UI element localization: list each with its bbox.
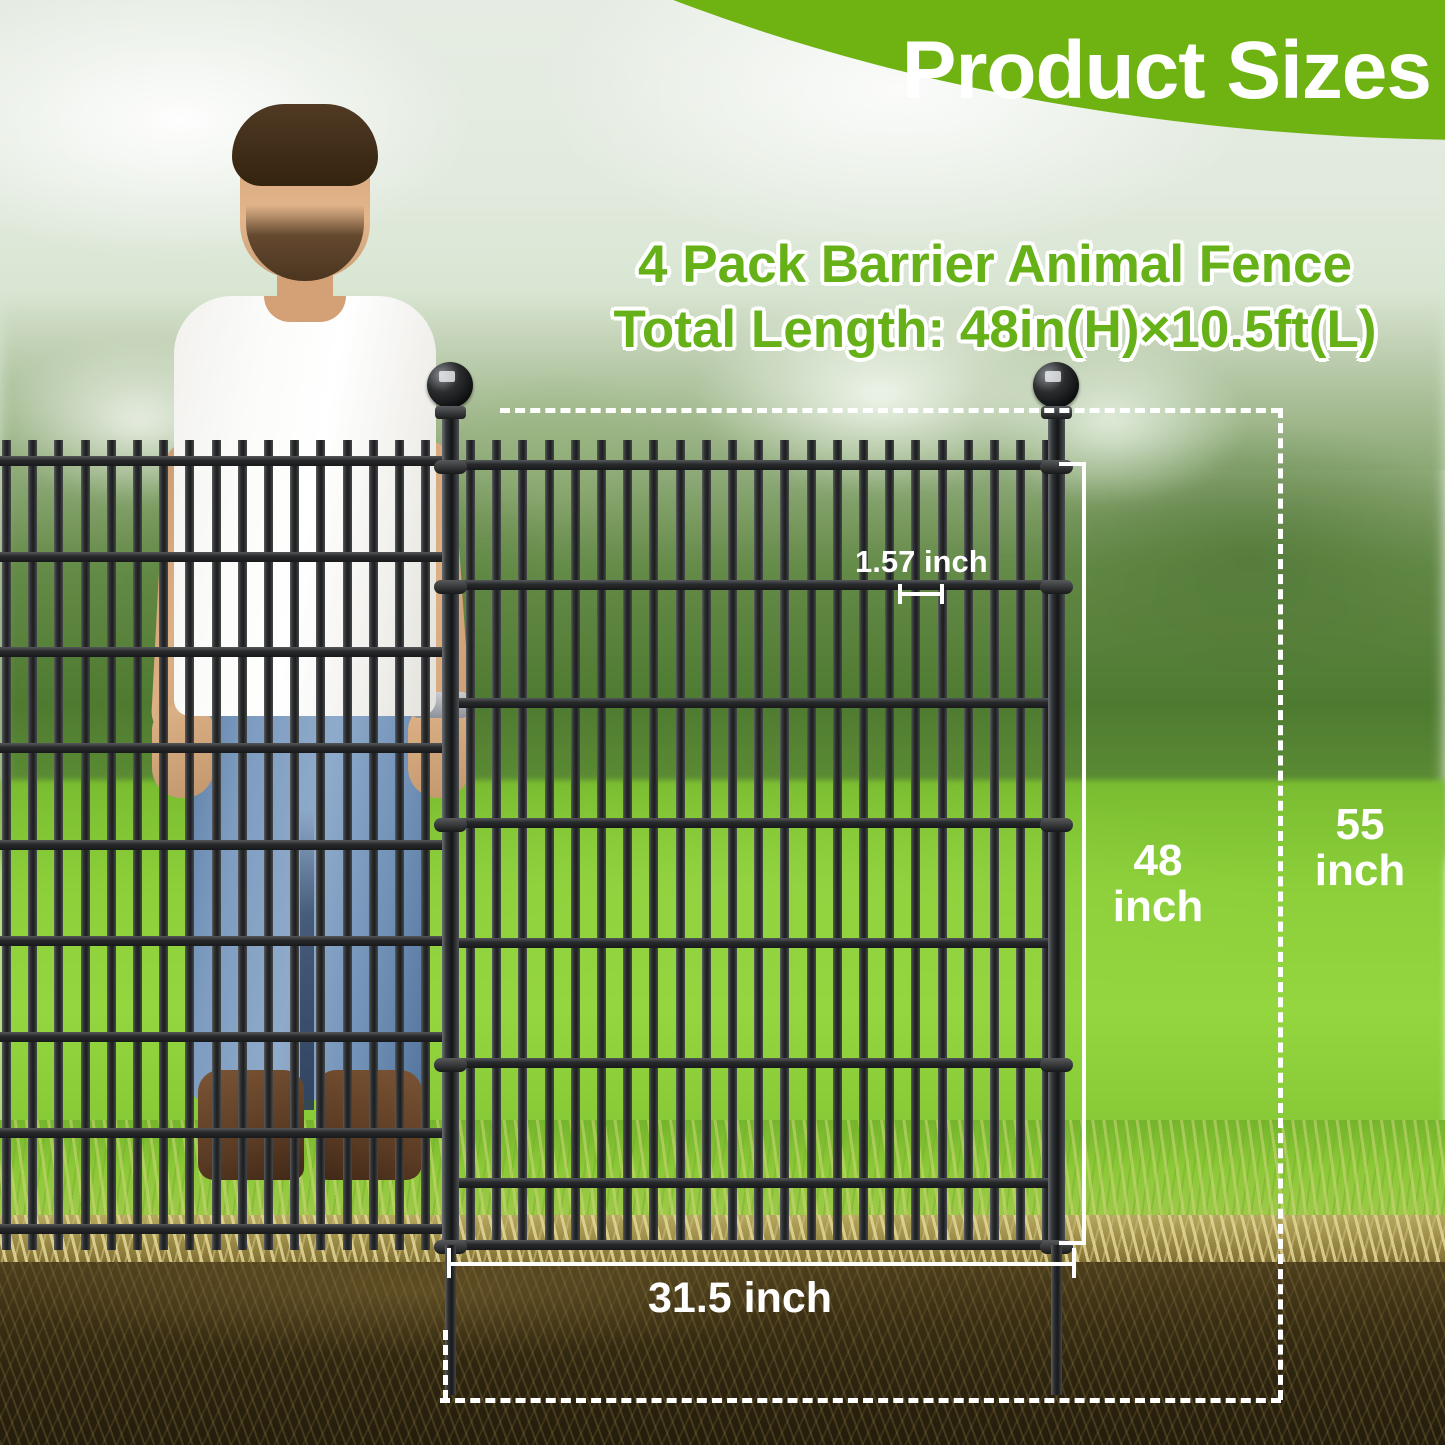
total-height-label: 55 inch: [1300, 802, 1420, 894]
fence-bar: [990, 440, 999, 1250]
fence-rail: [0, 840, 448, 850]
fence-bar: [466, 440, 475, 1250]
fence-bar: [1016, 440, 1025, 1250]
panel-height-value: 48: [1098, 838, 1218, 884]
ground-stake: [1051, 1245, 1062, 1395]
panel-clip: [434, 460, 467, 474]
panel-clip: [434, 818, 467, 832]
fence-bar: [833, 440, 842, 1250]
subtitle-line-2: Total Length: 48in(H)×10.5ft(L): [560, 301, 1430, 358]
fence-bar: [623, 440, 632, 1250]
fence-rail: [458, 938, 1058, 948]
fence-bar: [518, 440, 527, 1250]
bar-gap-right-cap: [940, 584, 944, 604]
fence-bar: [571, 440, 580, 1250]
panel-height-bottom-cap: [1059, 1241, 1085, 1245]
panel-width-right-cap: [1072, 1248, 1076, 1278]
fence-rail: [458, 818, 1058, 828]
fence-rail: [0, 456, 448, 466]
page-title: Product Sizes: [902, 30, 1431, 112]
fence-bar: [780, 440, 789, 1250]
fence-rail: [0, 936, 448, 946]
fence-rail: [0, 1128, 448, 1138]
total-height-value: 55: [1300, 802, 1420, 848]
top-dimension-dashed-line: [500, 408, 1281, 413]
panel-width-line: [447, 1262, 1076, 1266]
bar-gap-left-cap: [898, 584, 902, 604]
total-height-dashed-line: [1278, 408, 1283, 1400]
panel-clip: [434, 1058, 467, 1072]
panel-clip: [1040, 580, 1073, 594]
post-collar: [435, 406, 466, 419]
left-bottom-dashed-line: [443, 1330, 448, 1400]
fence-rail: [0, 647, 448, 657]
bottom-dimension-dashed-line: [440, 1398, 1281, 1403]
fence-rail: [0, 1224, 448, 1234]
product-sizes-infographic: Product Sizes 4 Pack Barrier Animal Fenc…: [0, 0, 1445, 1445]
panel-clip: [1040, 1058, 1073, 1072]
fence-rail: [0, 1032, 448, 1042]
fence-rail: [458, 580, 1058, 590]
panel-width-left-cap: [447, 1248, 451, 1278]
fence-bar: [649, 440, 658, 1250]
fence-bar: [728, 440, 737, 1250]
product-subtitle: 4 Pack Barrier Animal Fence Total Length…: [560, 236, 1430, 358]
panel-width-label: 31.5 inch: [600, 1276, 880, 1321]
fence-bar: [754, 440, 763, 1250]
total-height-unit: inch: [1300, 848, 1420, 894]
fence-bar: [676, 440, 685, 1250]
bar-gap-label: 1.57 inch: [855, 546, 988, 578]
fence-rail: [0, 743, 448, 753]
panel-height-line: [1082, 462, 1086, 1245]
header-banner: Product Sizes: [0, 0, 1445, 150]
panel-clip: [1040, 818, 1073, 832]
fence-bar: [702, 440, 711, 1250]
fence-bar: [597, 440, 606, 1250]
beard: [246, 205, 364, 281]
panel-height-unit: inch: [1098, 884, 1218, 930]
subtitle-line-1: 4 Pack Barrier Animal Fence: [560, 236, 1430, 293]
fence-rail: [458, 1058, 1058, 1068]
post-ball-finial: [427, 362, 473, 408]
bar-gap-arrow: [900, 592, 944, 596]
fence-bar: [545, 440, 554, 1250]
fence-rail: [458, 1178, 1058, 1188]
fence-rail: [458, 1240, 1058, 1250]
fence-rail: [458, 460, 1058, 470]
fence-rail: [0, 552, 448, 562]
fence-rail: [458, 698, 1058, 708]
fence-bar: [492, 440, 501, 1250]
panel-clip: [434, 580, 467, 594]
panel-height-label: 48 inch: [1098, 838, 1218, 930]
panel-height-top-cap: [1059, 462, 1085, 466]
fence-bar: [807, 440, 816, 1250]
post-ball-finial: [1033, 362, 1079, 408]
